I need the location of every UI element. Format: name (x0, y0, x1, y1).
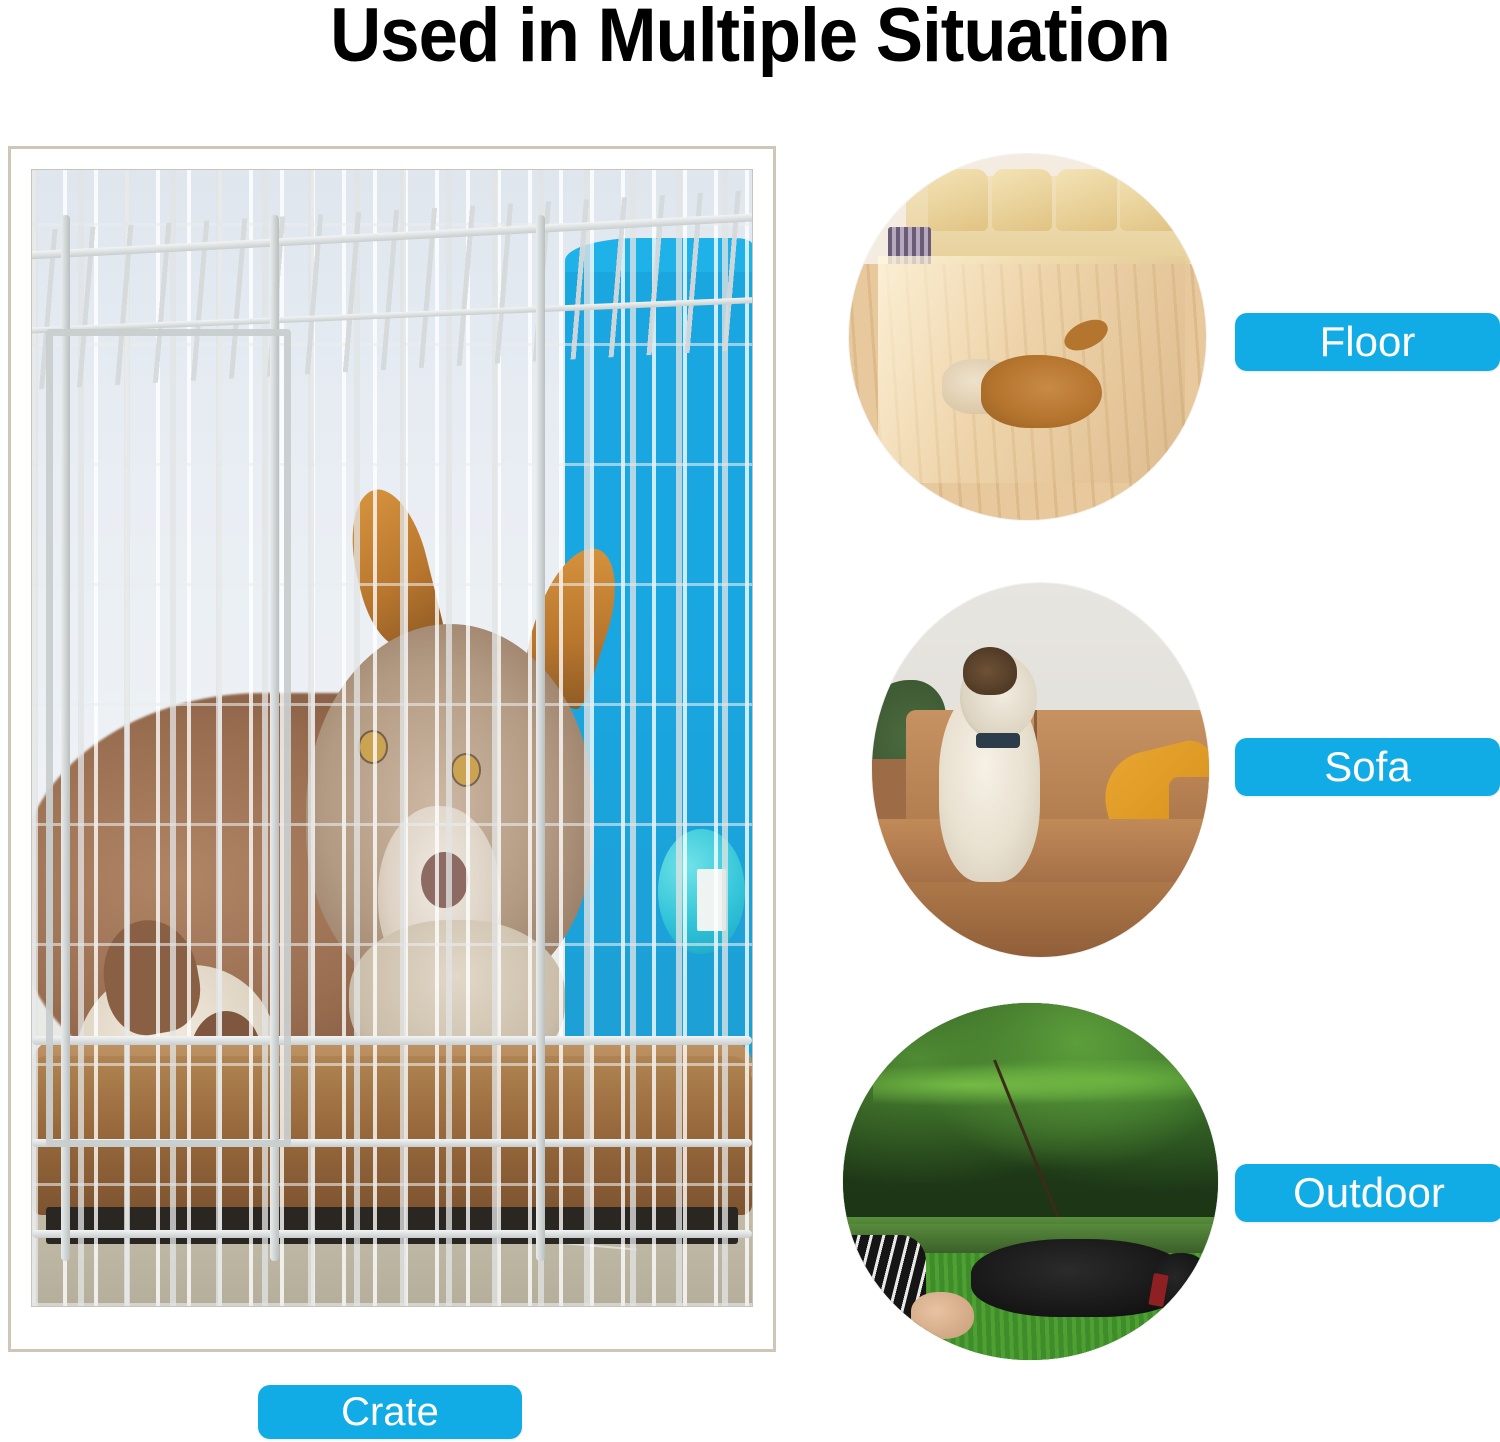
situation-photo-sofa (872, 583, 1209, 957)
situation-photo-outdoor (843, 1003, 1218, 1360)
floor-scene-cushion-1 (928, 169, 989, 231)
badge-sofa[interactable]: Sofa (1235, 738, 1500, 796)
sofa-scene-dog-fur-top (963, 647, 1017, 696)
crate-door-frame (46, 329, 291, 1147)
situation-photo-floor (849, 154, 1206, 520)
outdoor-scene-trees (843, 1003, 1218, 1224)
floor-scene-cushion-2 (992, 169, 1053, 231)
floor-scene-cushion-4 (1120, 169, 1181, 231)
sofa-scene-seat-front (872, 882, 1209, 957)
crate-photo (31, 169, 753, 1307)
infographic-page: Used in Multiple Situation (0, 0, 1500, 1442)
floor-scene-dog (981, 355, 1102, 428)
outdoor-scene-person-hand (911, 1292, 975, 1338)
badge-floor[interactable]: Floor (1235, 313, 1500, 371)
floor-scene-cushion-3 (1056, 169, 1117, 231)
badge-crate[interactable]: Crate (258, 1385, 522, 1439)
page-title: Used in Multiple Situation (53, 0, 1448, 76)
crate-rail-bottom (32, 1230, 752, 1238)
badge-outdoor[interactable]: Outdoor (1235, 1164, 1500, 1222)
crate-post-right (536, 215, 545, 1260)
sofa-scene-dog-collar (976, 733, 1020, 748)
outdoor-scene-leaves (873, 1060, 1203, 1110)
hero-photo-frame (8, 146, 776, 1352)
